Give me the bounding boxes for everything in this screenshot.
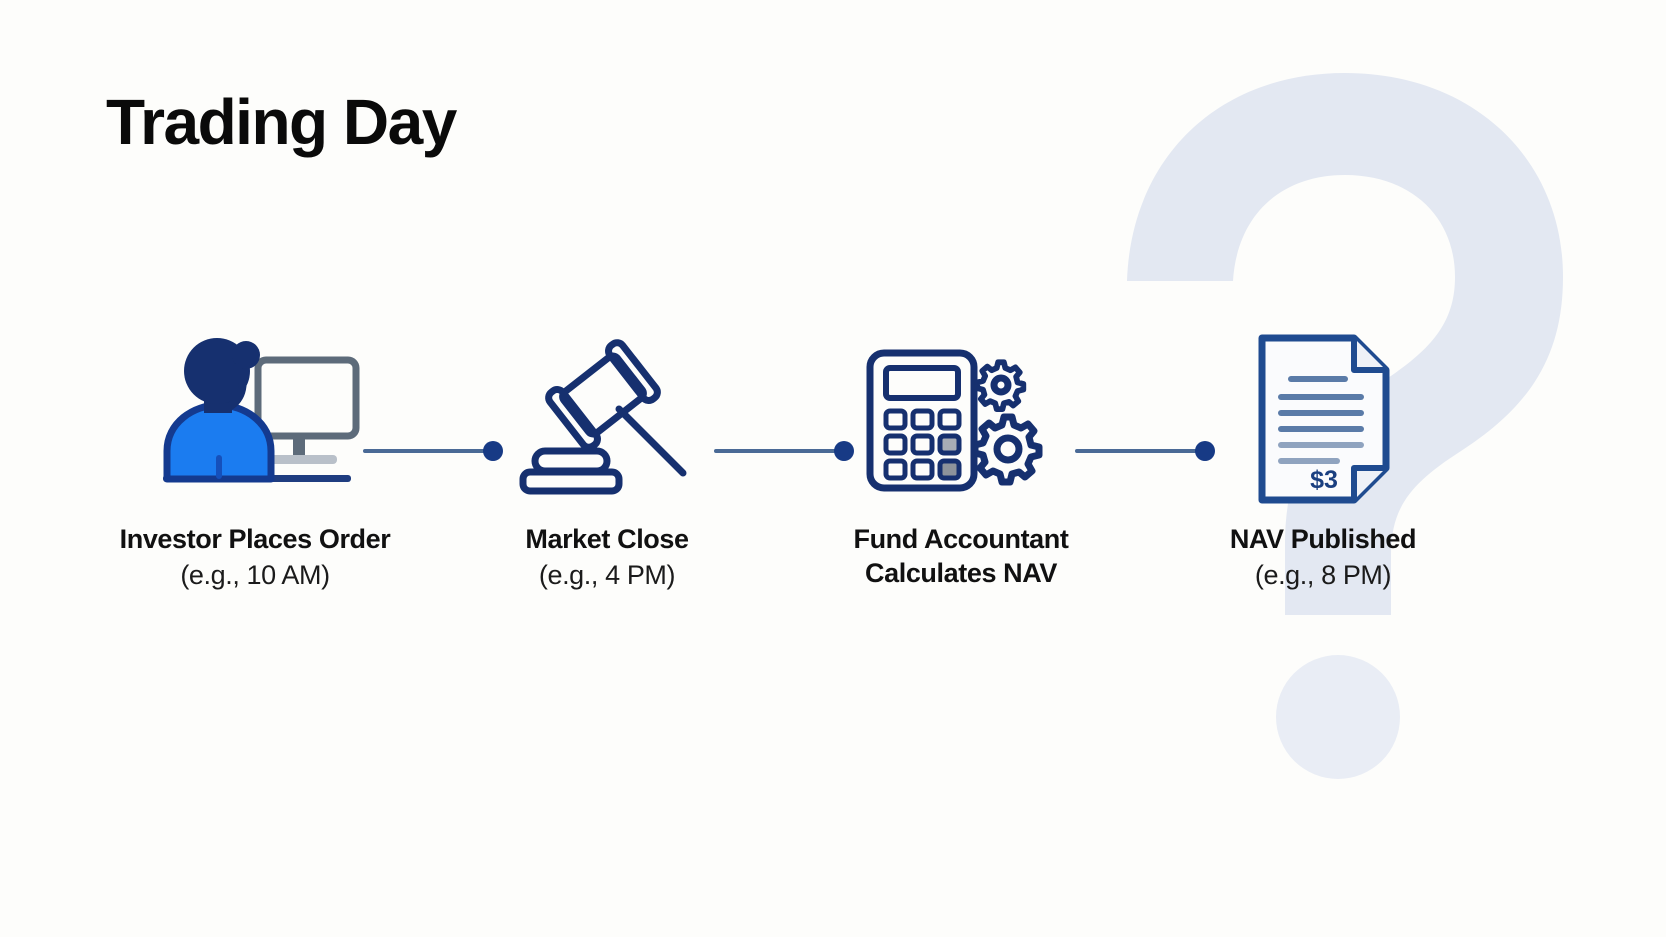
- calculator-gears-icon: [791, 330, 1131, 510]
- connector-line: [714, 449, 839, 453]
- page-title: Trading Day: [106, 90, 456, 154]
- flow-step-label: Investor Places Order: [85, 524, 425, 555]
- connector-dot: [483, 441, 503, 461]
- flow-step-label-line1: Fund Accountant: [791, 524, 1131, 555]
- process-flow: Investor Places Order (e.g., 10 AM): [0, 330, 1666, 630]
- flow-step-label: NAV Published: [1153, 524, 1493, 555]
- connector-line: [363, 449, 488, 453]
- connector-line: [1075, 449, 1200, 453]
- flow-step-sublabel: (e.g., 8 PM): [1153, 560, 1493, 591]
- gavel-icon: [437, 330, 777, 510]
- document-value: $3: [1310, 466, 1338, 494]
- flow-step-sublabel: (e.g., 4 PM): [437, 560, 777, 591]
- connector-dot: [1195, 441, 1215, 461]
- investor-at-computer-icon: [85, 330, 425, 510]
- document-nav-icon: $3: [1153, 330, 1493, 510]
- flow-step-label-line2: Calculates NAV: [791, 558, 1131, 589]
- flow-step-label: Market Close: [437, 524, 777, 555]
- connector-dot: [834, 441, 854, 461]
- flow-connector: [363, 441, 503, 461]
- flow-connector: [1075, 441, 1215, 461]
- flow-connector: [714, 441, 854, 461]
- flow-step-sublabel: (e.g., 10 AM): [85, 560, 425, 591]
